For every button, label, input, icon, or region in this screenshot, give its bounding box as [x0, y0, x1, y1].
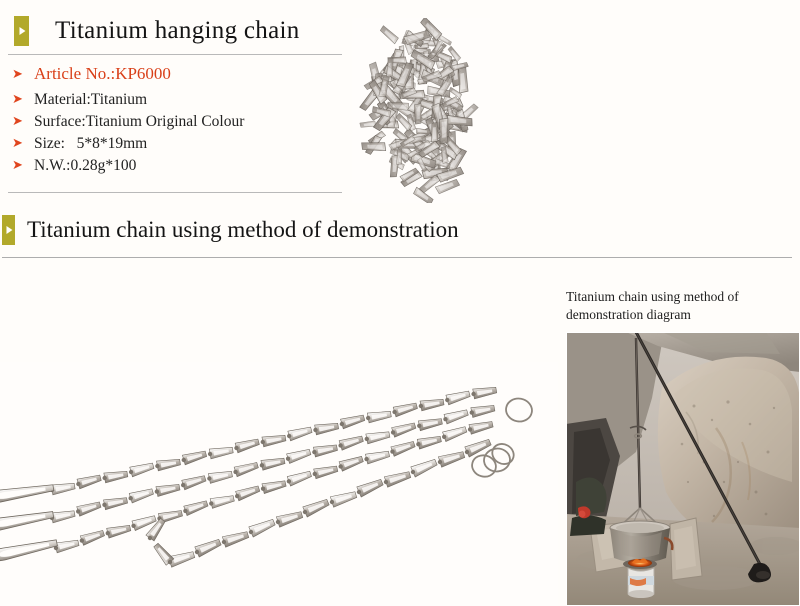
divider-under-spec-list — [8, 192, 342, 193]
product-section-header: Titanium hanging chain — [14, 16, 300, 46]
product-spec-list: ➤ Article No.:KP6000 ➤ Material:Titanium… — [12, 64, 342, 179]
gold-play-marker-icon — [14, 16, 29, 46]
red-arrow-bullet-icon: ➤ — [12, 67, 34, 80]
red-arrow-bullet-icon: ➤ — [12, 92, 34, 105]
spec-row: ➤ Article No.:KP6000 — [12, 64, 342, 84]
demo-title: Titanium chain using method of demonstra… — [27, 217, 459, 243]
product-page: Titanium hanging chain ➤ Article No.:KP6… — [0, 0, 800, 606]
divider-under-demo-title — [2, 257, 792, 258]
demo-photo-caption: Titanium chain using method of demonstra… — [566, 288, 792, 324]
spec-surface: Surface:Titanium Original Colour — [34, 113, 244, 131]
spec-row: ➤ N.W.:0.28g*100 — [12, 157, 342, 175]
spec-row: ➤ Size: 5*8*19mm — [12, 135, 342, 153]
demo-photo — [566, 332, 800, 606]
red-arrow-bullet-icon: ➤ — [12, 158, 34, 171]
spec-article-no: Article No.:KP6000 — [34, 64, 171, 84]
spec-net-weight: N.W.:0.28g*100 — [34, 157, 136, 175]
red-arrow-bullet-icon: ➤ — [12, 136, 34, 149]
product-title: Titanium hanging chain — [55, 17, 300, 45]
spec-row: ➤ Surface:Titanium Original Colour — [12, 113, 342, 131]
spec-material: Material:Titanium — [34, 91, 147, 109]
divider-under-product-title — [8, 54, 342, 55]
chain-photo — [0, 362, 558, 606]
spec-row: ➤ Material:Titanium — [12, 91, 342, 109]
red-arrow-bullet-icon: ➤ — [12, 114, 34, 127]
spec-size: Size: 5*8*19mm — [34, 135, 147, 153]
gold-play-marker-icon — [2, 215, 15, 245]
demo-section-header: Titanium chain using method of demonstra… — [2, 215, 459, 245]
product-photo-links-pile — [352, 18, 490, 203]
